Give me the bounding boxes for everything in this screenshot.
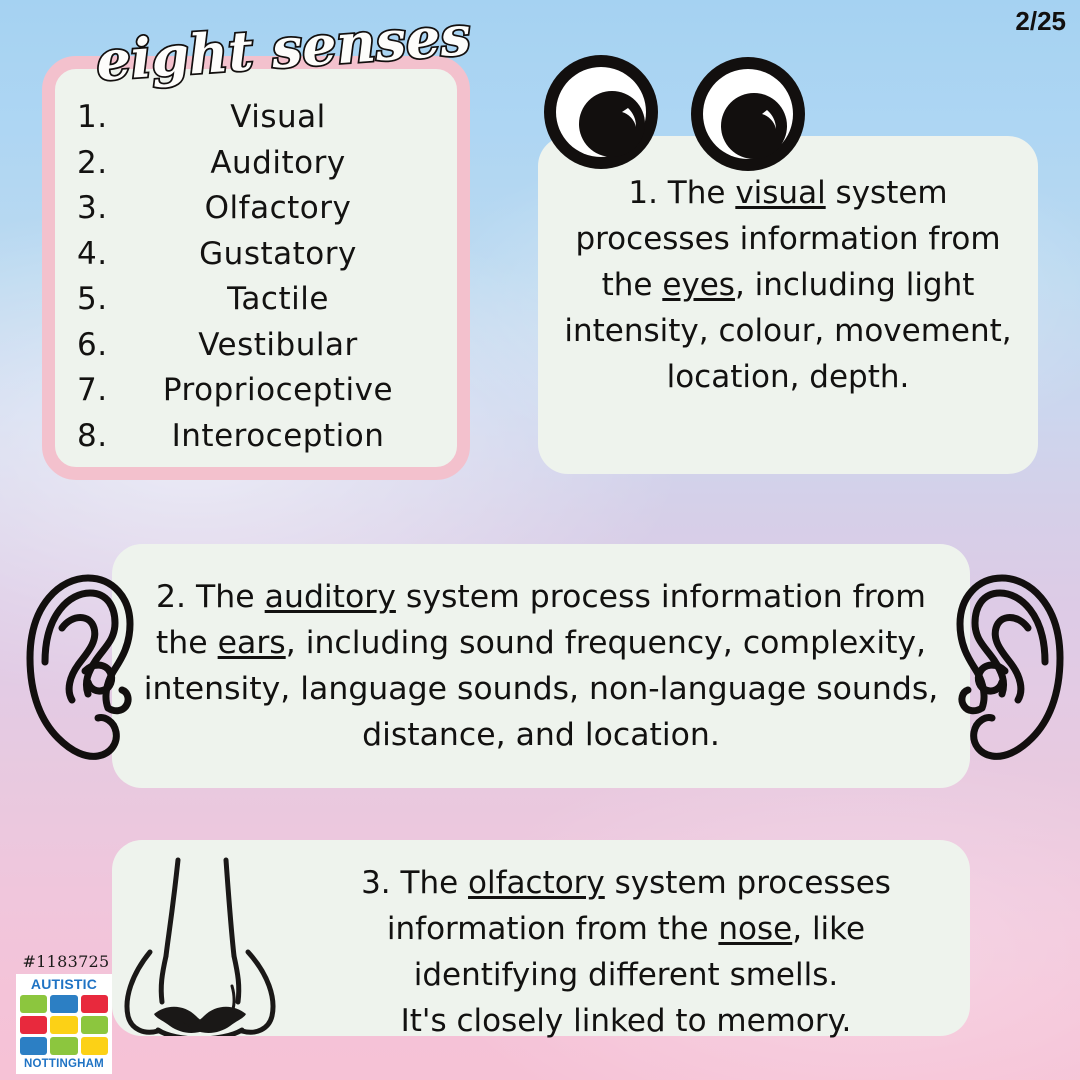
logo-box: AUTISTIC NOTTINGHAM (16, 974, 112, 1074)
list-item-label: Interoception (125, 414, 457, 460)
visual-keyword-2: eyes (662, 267, 735, 303)
list-item-label: Tactile (125, 277, 457, 323)
logo-tile (20, 1037, 47, 1055)
list-item-label: Visual (125, 95, 457, 141)
list-item-label: Olfactory (125, 186, 457, 232)
list-item: 5. Tactile (63, 277, 457, 323)
list-item-number: 1. (63, 95, 125, 141)
list-item: 1. Visual (63, 95, 457, 141)
list-item-number: 5. (63, 277, 125, 323)
olfactory-keyword-2: nose (718, 911, 792, 947)
logo-tile (50, 1037, 77, 1055)
logo-tile (81, 1037, 108, 1055)
auditory-card: 2. The auditory system process informati… (112, 544, 970, 788)
auditory-number: 2. (156, 579, 186, 615)
poster-canvas: 2/25 eight senses 1. Visual 2. Auditory … (0, 0, 1080, 1080)
list-item: 3. Olfactory (63, 186, 457, 232)
brand-logo: #1183725 AUTISTIC NOTTINGHAM (14, 952, 118, 1074)
list-item: 7. Proprioceptive (63, 368, 457, 414)
logo-color-grid (20, 995, 108, 1055)
logo-tile (81, 995, 108, 1013)
googly-eyes-icon (536, 52, 836, 182)
list-item-number: 8. (63, 414, 125, 460)
list-item-label: Gustatory (125, 232, 457, 278)
auditory-keyword-2: ears (218, 625, 286, 661)
visual-card-text: 1. The visual system processes informati… (560, 170, 1016, 400)
auditory-keyword-1: auditory (265, 579, 396, 615)
list-item-number: 3. (63, 186, 125, 232)
visual-card: 1. The visual system processes informati… (538, 136, 1038, 474)
olfactory-number: 3. (361, 865, 391, 901)
page-indicator: 2/25 (1015, 6, 1066, 37)
logo-code: #1183725 (14, 952, 118, 971)
list-item: 6. Vestibular (63, 323, 457, 369)
logo-tile (50, 995, 77, 1013)
list-item: 4. Gustatory (63, 232, 457, 278)
logo-tile (20, 995, 47, 1013)
olfactory-lead: The (391, 865, 468, 901)
list-item-label: Vestibular (125, 323, 457, 369)
list-item-label: Proprioceptive (125, 368, 457, 414)
list-item-number: 4. (63, 232, 125, 278)
logo-tile (50, 1016, 77, 1034)
ear-icon-left (18, 566, 140, 770)
olfactory-extra-line: It's closely linked to memory. (401, 1003, 852, 1039)
list-item-number: 7. (63, 368, 125, 414)
logo-word-autistic: AUTISTIC (20, 977, 108, 992)
list-item: 8. Interoception (63, 414, 457, 460)
list-item: 2. Auditory (63, 141, 457, 187)
logo-tile (81, 1016, 108, 1034)
ear-icon-right (950, 566, 1072, 770)
list-item-number: 6. (63, 323, 125, 369)
logo-word-nottingham: NOTTINGHAM (20, 1057, 108, 1071)
list-item-label: Auditory (125, 141, 457, 187)
logo-tile (20, 1016, 47, 1034)
nose-icon (118, 846, 298, 1040)
senses-list-card: 1. Visual 2. Auditory 3. Olfactory 4. Gu… (42, 56, 470, 480)
auditory-lead: The (186, 579, 265, 615)
senses-list: 1. Visual 2. Auditory 3. Olfactory 4. Gu… (55, 95, 457, 459)
auditory-card-text: 2. The auditory system process informati… (138, 574, 944, 758)
list-item-number: 2. (63, 141, 125, 187)
olfactory-keyword-1: olfactory (468, 865, 605, 901)
